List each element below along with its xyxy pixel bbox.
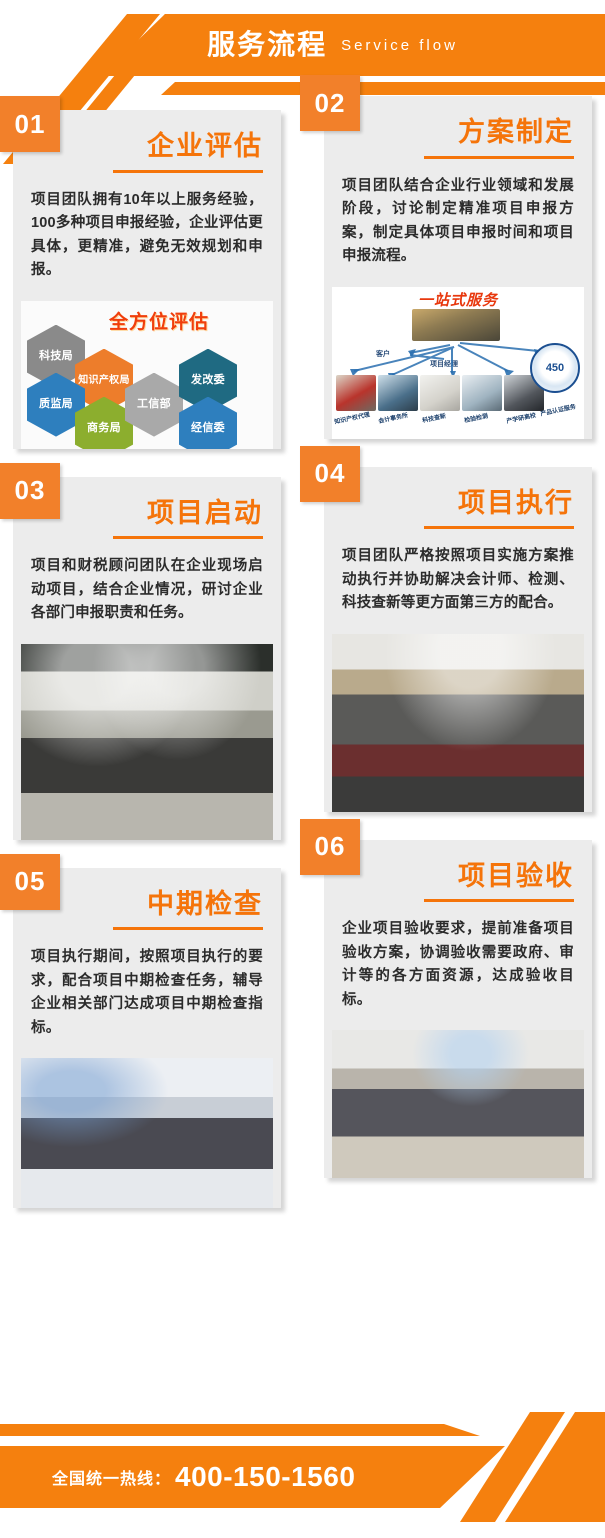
cards-grid: 01 企业评估 项目团队拥有10年以上服务经验，100多种项目申报经验，企业评估… — [0, 96, 605, 1406]
card-number-badge: 03 — [0, 463, 60, 519]
certification-seal-icon: 450 — [530, 343, 580, 393]
hexagon-diagram: 全方位评估 科技局 知识产权局 质监局 商务局 工信部 发改委 经信委 — [21, 301, 273, 449]
card-body: 项目团队拥有10年以上服务经验，100多种项目申报经验，企业评估更具体，更精准，… — [13, 173, 281, 301]
working-session-photo — [332, 634, 584, 812]
card-body: 项目团队严格按照项目实施方案推动执行并协助解决会计师、检测、科技查新等更方面第三… — [324, 529, 592, 633]
page-subtitle: Service flow — [341, 38, 458, 53]
one-stop-thumb-ip — [336, 375, 376, 411]
one-stop-canvas: 一站式服务 客户 项目经理 — [332, 287, 584, 439]
lobby-visit-photo — [21, 1058, 273, 1208]
conference-photo — [332, 1030, 584, 1178]
card-body: 企业项目验收要求，提前准备项目验收方案，协调验收需要政府、审计等的各方面资源，达… — [324, 902, 592, 1030]
card-number-badge: 06 — [300, 819, 360, 875]
page-footer: 全国统一热线： 400-150-1560 — [0, 1412, 605, 1538]
card-body: 项目团队结合企业行业领域和发展阶段，讨论制定精准项目申报方案，制定具体项目申报时… — [324, 159, 592, 287]
footer-top-stripe — [0, 1424, 605, 1436]
page-title: 服务流程 — [207, 31, 327, 59]
card-03[interactable]: 03 项目启动 项目和财税顾问团队在企业现场启动项目，结合企业情况，研讨企业各部… — [13, 477, 281, 840]
photo-image — [21, 1058, 273, 1208]
card-02[interactable]: 02 方案制定 项目团队结合企业行业领域和发展阶段，讨论制定精准项目申报方案，制… — [324, 96, 592, 439]
hexagon-diagram-canvas: 全方位评估 科技局 知识产权局 质监局 商务局 工信部 发改委 经信委 — [21, 301, 273, 449]
one-stop-thumb-accounting — [378, 375, 418, 411]
card-number-badge: 05 — [0, 854, 60, 910]
service-flow-infographic: 服务流程 Service flow 01 企业评估 项目团队拥有10年以上服务经… — [0, 0, 605, 1538]
one-stop-service-diagram: 一站式服务 客户 项目经理 — [332, 287, 584, 439]
card-05[interactable]: 05 中期检查 项目执行期间，按照项目执行的要求，配合项目中期检查任务，辅导企业… — [13, 868, 281, 1209]
photo-image — [21, 644, 273, 840]
card-04[interactable]: 04 项目执行 项目团队严格按照项目实施方案推动执行并协助解决会计师、检测、科技… — [324, 467, 592, 812]
meeting-room-photo — [21, 644, 273, 840]
one-stop-thumb-search — [420, 375, 460, 411]
card-06[interactable]: 06 项目验收 企业项目验收要求，提前准备项目验收方案，协调验收需要政府、审计等… — [324, 840, 592, 1179]
card-number-badge: 01 — [0, 96, 60, 152]
card-number-badge: 02 — [300, 75, 360, 131]
hotline-group: 全国统一热线： 400-150-1560 — [0, 1446, 440, 1508]
one-stop-thumb-testing — [462, 375, 502, 411]
hexagon-diagram-title: 全方位评估 — [109, 307, 209, 334]
card-title: 项目验收 — [324, 840, 592, 892]
hotline-number[interactable]: 400-150-1560 — [175, 1461, 355, 1493]
right-column: 02 方案制定 项目团队结合企业行业领域和发展阶段，讨论制定精准项目申报方案，制… — [324, 96, 592, 1206]
photo-image — [332, 1030, 584, 1178]
hex-node-gongxin-bu: 工信部 — [125, 373, 183, 437]
card-body: 项目执行期间，按照项目执行的要求，配合项目中期检查任务，辅导企业相关部门达成项目… — [13, 930, 281, 1058]
hex-node-jingxin-wei: 经信委 — [179, 397, 237, 449]
card-title: 方案制定 — [324, 96, 592, 148]
card-01[interactable]: 01 企业评估 项目团队拥有10年以上服务经验，100多种项目申报经验，企业评估… — [13, 110, 281, 449]
header-title-group: 服务流程 Service flow — [0, 14, 605, 76]
card-body: 项目和财税顾问团队在企业现场启动项目，结合企业情况，研讨企业各部门申报职责和任务… — [13, 539, 281, 643]
hotline-label: 全国统一热线： — [52, 1465, 171, 1489]
photo-image — [332, 634, 584, 812]
left-column: 01 企业评估 项目团队拥有10年以上服务经验，100多种项目申报经验，企业评估… — [13, 110, 281, 1236]
card-number-badge: 04 — [300, 446, 360, 502]
card-title: 项目执行 — [324, 467, 592, 519]
